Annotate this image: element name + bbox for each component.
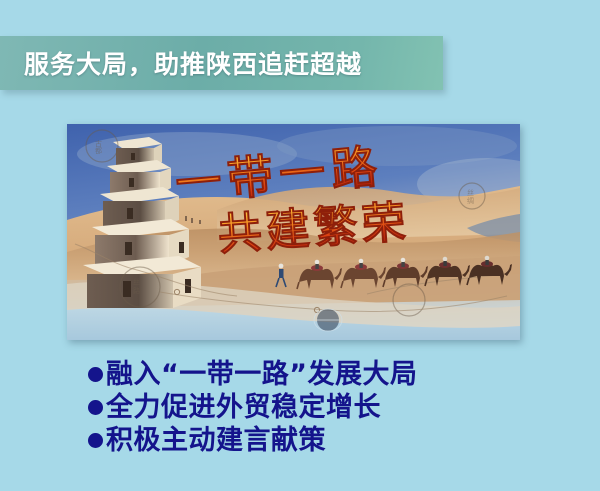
svg-text:丝: 丝 [133,277,140,286]
svg-text:都: 都 [95,147,102,155]
presentation-slide: 服务大局，助推陕西追赶超越 [0,0,600,491]
svg-text:绸: 绸 [467,196,474,205]
bullet-list: 融入“一带一路”发展大局 全力促进外贸稳定增长 积极主动建言献策 [88,358,558,457]
bullet-dot-icon [88,400,103,415]
hero-illustration: 古都 丝路 丝绸 [67,124,520,340]
page-title: 服务大局，助推陕西追赶超越 [0,45,362,81]
bullet-text: 积极主动建言献策 [106,427,326,454]
list-item: 全力促进外贸稳定增长 [88,391,558,424]
globe-icon [314,309,342,331]
svg-text:路: 路 [133,286,140,295]
bullet-text: 融入“一带一路”发展大局 [106,361,418,388]
list-item: 积极主动建言献策 [88,424,558,457]
bullet-dot-icon [88,433,103,448]
bullet-text: 全力促进外贸稳定增长 [106,394,381,421]
belt-and-road-artwork-svg: 古都 丝路 丝绸 [67,124,520,340]
slide-title-banner: 服务大局，助推陕西追赶超越 [0,36,443,90]
svg-text:丝: 丝 [467,188,474,197]
list-item: 融入“一带一路”发展大局 [88,358,558,391]
bullet-dot-icon [88,367,103,382]
